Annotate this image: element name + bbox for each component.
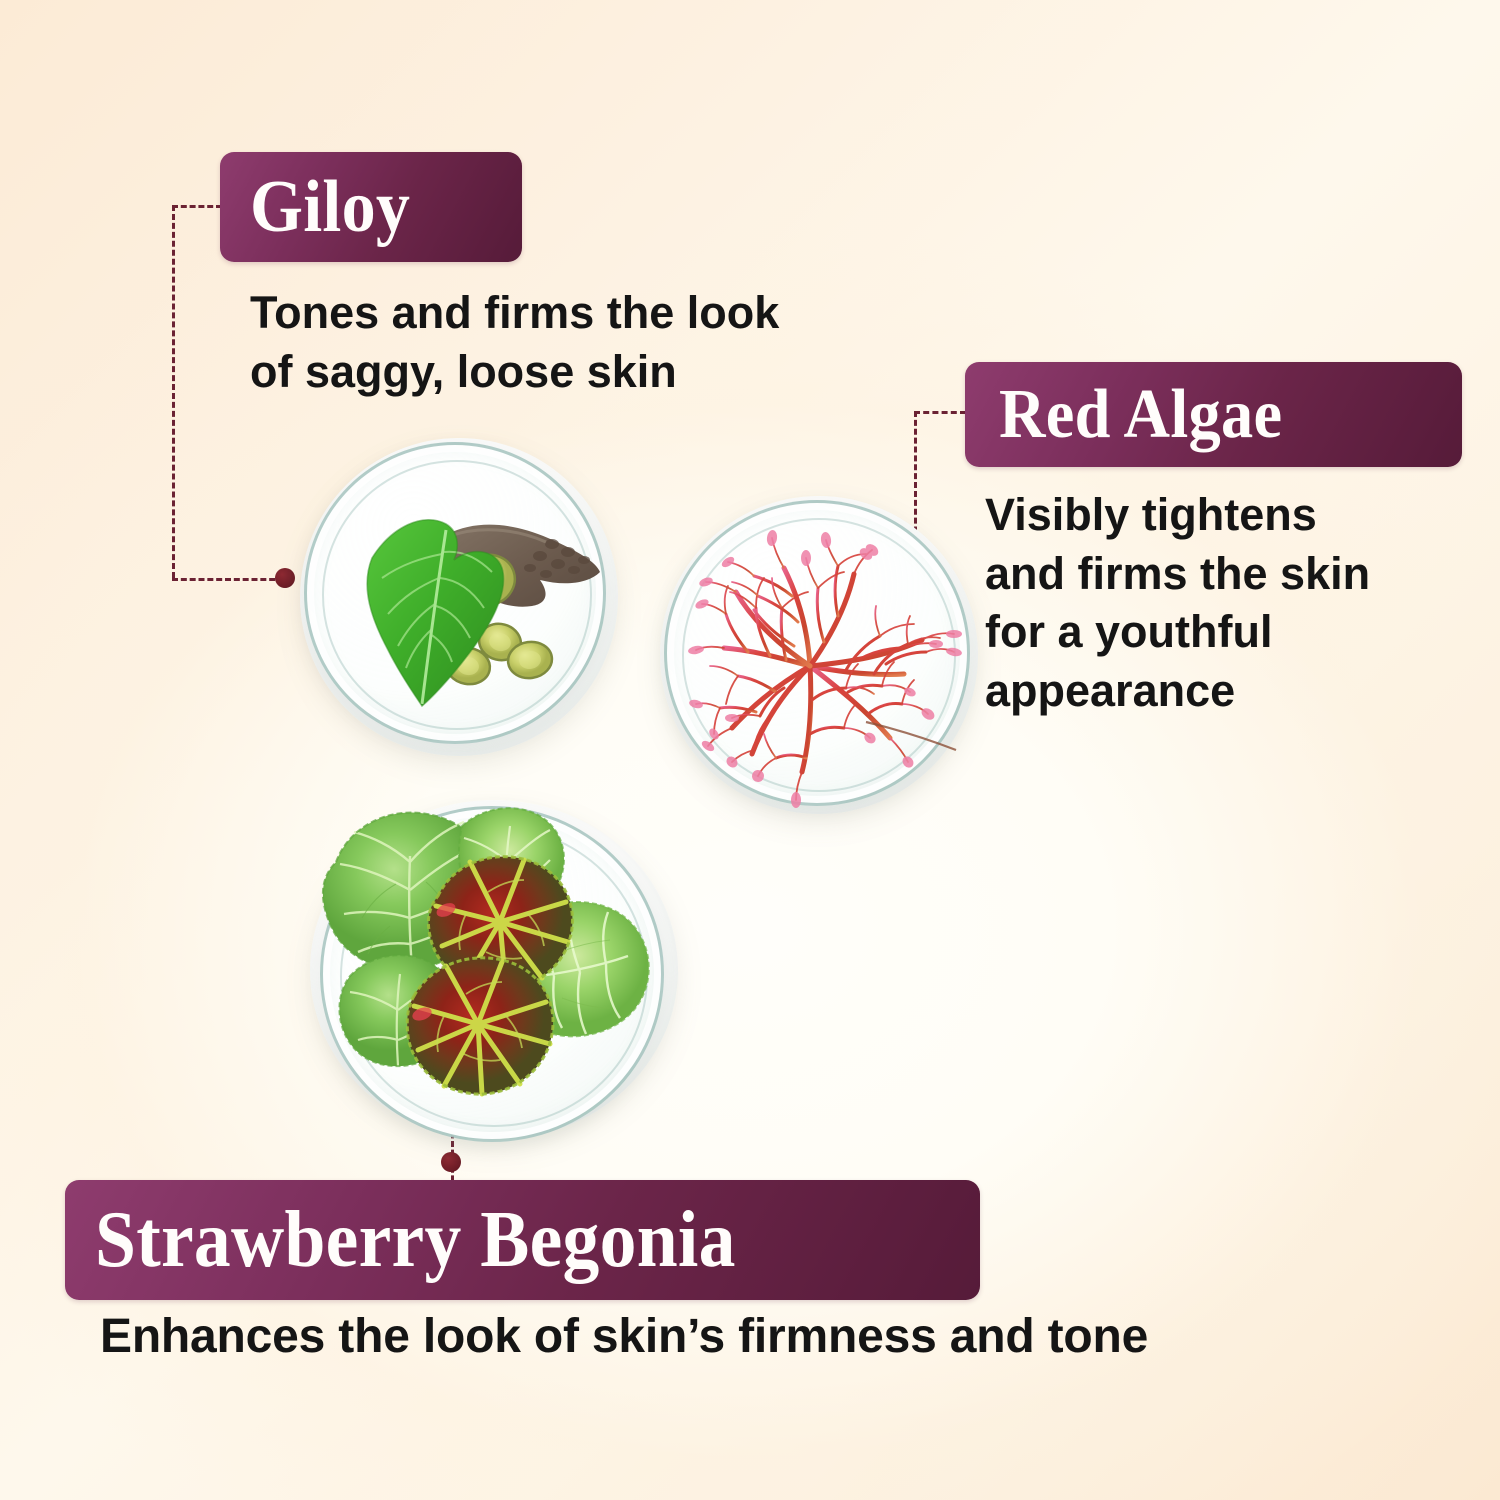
badge-giloy[interactable]: Giloy: [220, 152, 522, 262]
caption-giloy: Tones and firms the look of saggy, loose…: [250, 284, 870, 401]
caption-red-algae: Visibly tightens and firms the skin for …: [985, 486, 1455, 720]
connector-giloy-vertical-segment: [172, 205, 175, 578]
petri-dish-red-algae: [660, 496, 978, 848]
caption-strawberry-begonia: Enhances the look of skin’s firmness and…: [100, 1306, 1180, 1368]
ingredient-infographic: Giloy Red Algae Strawberry Begonia Tones…: [0, 0, 1500, 1500]
connector-red-algae-top-segment: [914, 411, 966, 414]
connector-giloy-top-segment: [172, 205, 222, 208]
connector-giloy-bottom-segment: [172, 578, 284, 581]
giloy-contents-art: [300, 438, 618, 756]
badge-red-algae-label: Red Algae: [999, 375, 1282, 455]
badge-strawberry-begonia-label: Strawberry Begonia: [95, 1195, 736, 1286]
badge-red-algae[interactable]: Red Algae: [965, 362, 1462, 467]
begonia-red-leaf-2: [407, 958, 553, 1094]
connector-giloy-dot: [275, 568, 295, 588]
badge-giloy-label: Giloy: [250, 165, 410, 250]
petri-dish-strawberry-begonia: [310, 800, 678, 1162]
algae-stray-strand: [866, 722, 956, 750]
badge-strawberry-begonia[interactable]: Strawberry Begonia: [65, 1180, 980, 1300]
begonia-contents-art: [310, 800, 678, 1162]
petri-dish-giloy: [300, 438, 618, 756]
red-algae-contents-art: [660, 496, 978, 848]
